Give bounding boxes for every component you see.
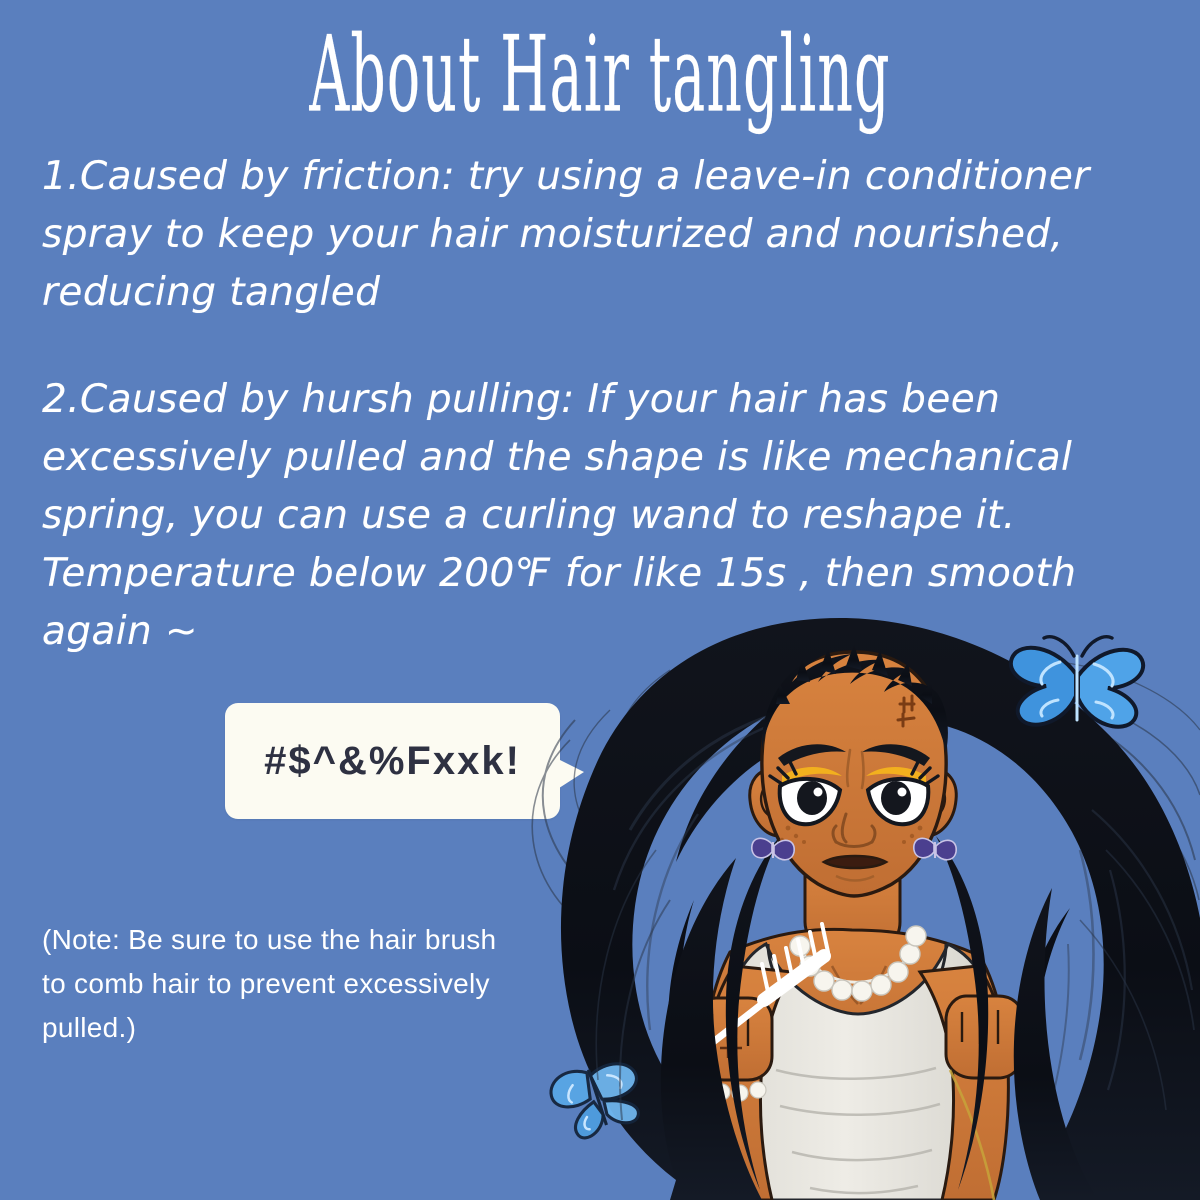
comb [690, 924, 828, 1060]
hair-wisps-front [596, 810, 1194, 1120]
butterfly-earring-left [752, 838, 794, 859]
mouth [824, 856, 886, 881]
eyes [770, 762, 938, 824]
collarbone [832, 966, 886, 1004]
forehead-tattoo [898, 696, 914, 726]
butterfly-earring-right [914, 838, 956, 859]
pearl-bracelet [696, 1080, 766, 1101]
speech-bubble-tail [556, 758, 584, 790]
brow-crease [847, 750, 863, 788]
right-arm [920, 966, 1022, 1200]
eyelashes [770, 762, 938, 784]
chest [704, 929, 1008, 1070]
knuckle-lines [712, 1010, 748, 1046]
pearl-necklace [790, 926, 926, 1001]
ears [750, 770, 957, 836]
hair [561, 618, 1200, 1200]
dress-folds [776, 1068, 940, 1193]
poster-root: About Hair tangling 1.Caused by friction… [0, 0, 1200, 1200]
hair-front [661, 836, 1098, 1200]
character-illustration [480, 600, 1200, 1200]
paragraph-friction: 1.Caused by friction: try using a leave-… [42, 148, 1172, 322]
hair-wisps-back [532, 660, 1200, 930]
face [762, 652, 946, 896]
freckles [780, 826, 928, 850]
hand-tattoo [720, 1038, 742, 1058]
speech-bubble-text: #$^&%Fxxk! [225, 703, 560, 819]
left-arm [696, 966, 792, 1200]
eyeshadow [782, 767, 926, 786]
neck [805, 862, 900, 956]
comb-teeth [762, 924, 828, 992]
hairline [762, 650, 948, 752]
tank-dress [718, 944, 1000, 1200]
butterfly-floating [546, 1053, 650, 1144]
hair-strands-inner [614, 704, 1125, 1140]
paragraph-pulling: 2.Caused by hursh pulling: If your hair … [42, 371, 1172, 661]
fist-right [946, 996, 1022, 1078]
speech-bubble: #$^&%Fxxk! [225, 703, 560, 819]
note-text: (Note: Be sure to use the hair brush to … [42, 918, 602, 1050]
page-title: About Hair tangling [240, 16, 960, 135]
nose [833, 814, 875, 847]
fist-left [696, 998, 772, 1080]
eyebrows [778, 744, 930, 766]
dress-straps [768, 944, 946, 988]
